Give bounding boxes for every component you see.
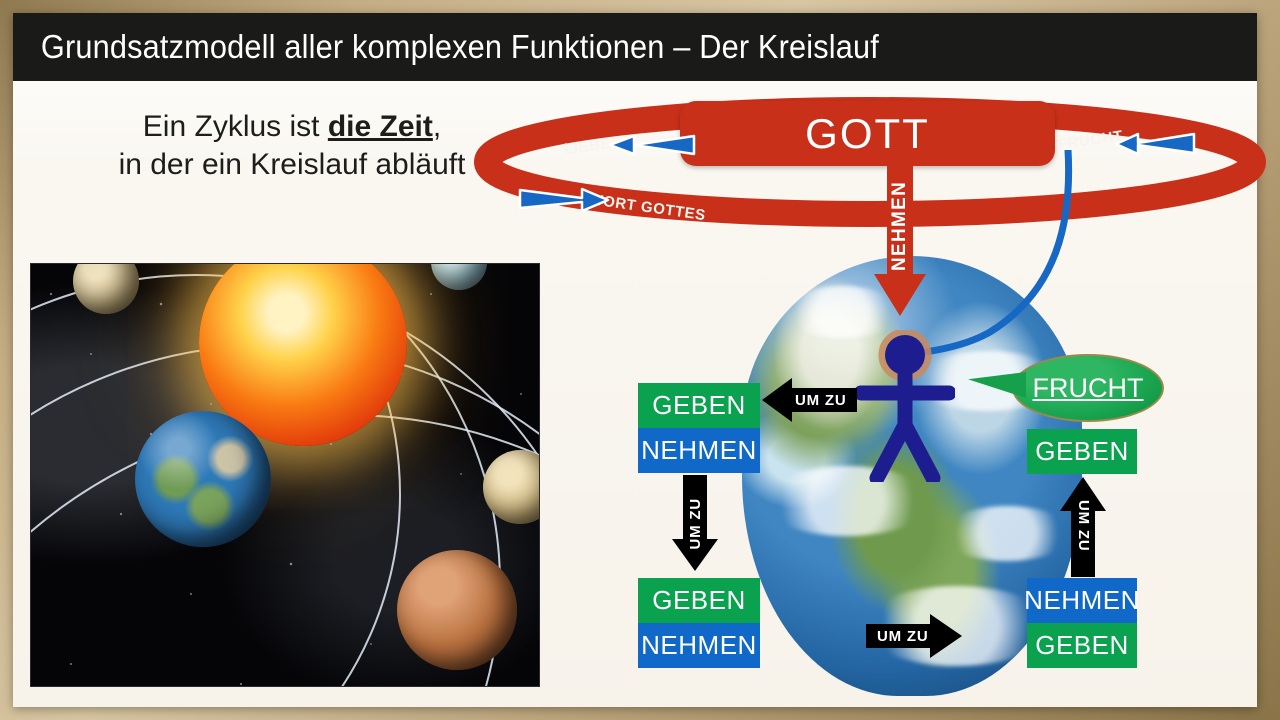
box-right-lower-nehmen[interactable]: NEHMEN: [1027, 578, 1137, 623]
umzu-label-right: UM ZU: [1075, 500, 1092, 552]
stick-figure-person: [855, 330, 955, 482]
umzu-label-left: UM ZU: [687, 498, 704, 550]
slide-title-bar: Grundsatzmodell aller komplexen Funktion…: [13, 13, 1257, 81]
frucht-bubble-label: FRUCHT: [1033, 373, 1144, 404]
caption-emphasis: die Zeit: [328, 110, 433, 143]
page-title: Grundsatzmodell aller komplexen Funktion…: [13, 28, 879, 66]
caption-text: Ein Zyklus ist die Zeit, in der ein Krei…: [52, 108, 532, 185]
solar-system-illustration: [30, 263, 540, 687]
caption-line1-post: ,: [433, 110, 441, 143]
box-left-upper-geben[interactable]: GEBEN: [638, 383, 760, 428]
nehmen-arrow-label: NEHMEN: [874, 166, 926, 286]
slide-root: Grundsatzmodell aller komplexen Funktion…: [0, 0, 1280, 720]
caption-line2: in der ein Kreislauf abläuft: [52, 146, 532, 184]
cloud: [942, 506, 1072, 561]
frucht-speech-bubble[interactable]: FRUCHT: [1012, 354, 1164, 422]
caption-line1-pre: Ein Zyklus ist: [143, 110, 328, 143]
blue-arrow-right-icon: [516, 182, 612, 216]
blue-arrow-left-icon: [606, 128, 696, 162]
umzu-label-top: UM ZU: [795, 392, 847, 409]
box-right-lower-geben[interactable]: GEBEN: [1027, 623, 1137, 668]
blue-arrow-frucht-icon: [1112, 127, 1196, 161]
planet-earth: [135, 411, 271, 547]
box-right-upper-geben[interactable]: GEBEN: [1027, 429, 1137, 474]
box-left-lower-nehmen[interactable]: NEHMEN: [638, 623, 760, 668]
box-left-lower-geben[interactable]: GEBEN: [638, 578, 760, 623]
box-left-upper-nehmen[interactable]: NEHMEN: [638, 428, 760, 473]
planet-mars: [397, 550, 517, 670]
umzu-label-bottom: UM ZU: [877, 628, 929, 645]
